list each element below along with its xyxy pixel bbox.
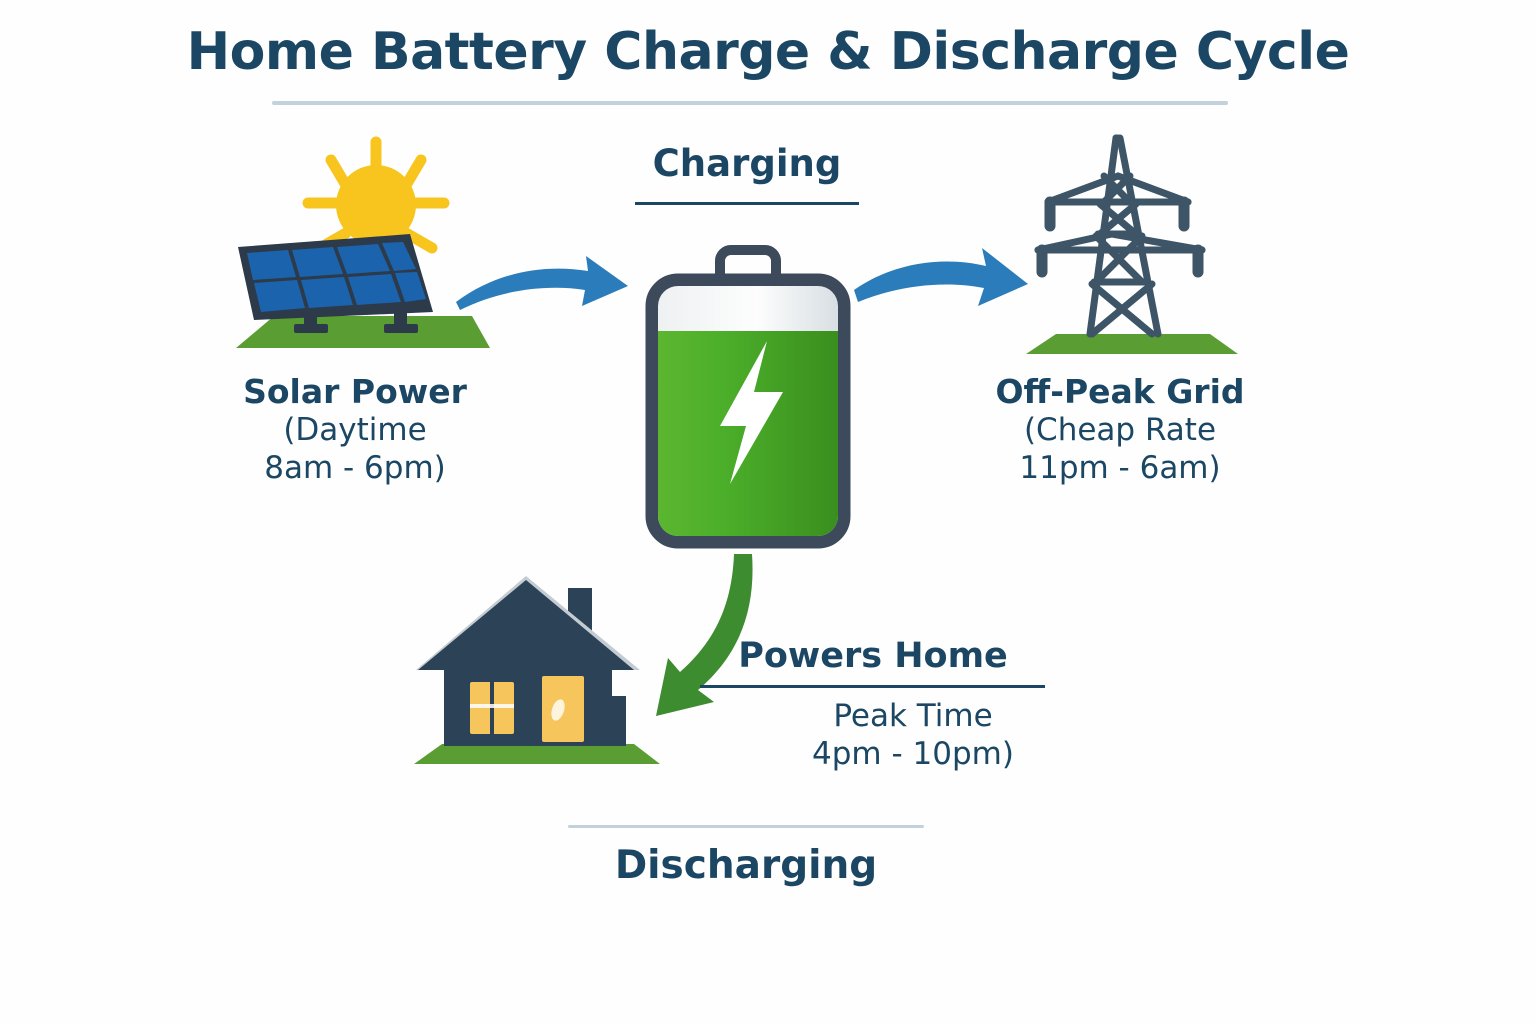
- home-subline-1: Peak Time: [740, 698, 1086, 736]
- transmission-tower-icon: [1012, 122, 1250, 360]
- door: [542, 676, 584, 742]
- grid-subline-1: (Cheap Rate: [960, 412, 1280, 450]
- solar-caption: Solar Power (Daytime 8am - 6pm): [195, 372, 515, 488]
- grass-patch: [1026, 334, 1238, 354]
- sun-disc: [336, 165, 416, 245]
- powers-home-underline: [700, 685, 1045, 688]
- house-body: [444, 666, 612, 746]
- solar-headline: Solar Power: [195, 372, 515, 412]
- grass-patch: [414, 744, 660, 764]
- solar-to-battery-arrow: [452, 248, 658, 332]
- roof: [418, 580, 634, 670]
- charging-underline: [635, 202, 859, 205]
- page-title: Home Battery Charge & Discharge Cycle: [0, 22, 1536, 82]
- powers-home-label: Powers Home: [700, 636, 1046, 676]
- solar-subline-2: 8am - 6pm): [195, 450, 515, 488]
- house-icon: [408, 558, 672, 780]
- grid-headline: Off-Peak Grid: [960, 372, 1280, 412]
- discharging-label: Discharging: [568, 843, 924, 888]
- home-subline-2: 4pm - 10pm): [740, 736, 1086, 774]
- battery-charging-icon: [636, 244, 860, 556]
- grid-subline-2: 11pm - 6am): [960, 450, 1280, 488]
- discharging-divider: [568, 825, 924, 828]
- title-divider: [272, 101, 1228, 105]
- diagram-canvas: Home Battery Charge & Discharge Cycle Ch…: [0, 0, 1536, 1024]
- window: [470, 682, 514, 734]
- solar-subline-1: (Daytime: [195, 412, 515, 450]
- home-caption: Peak Time 4pm - 10pm): [740, 698, 1086, 774]
- grid-caption: Off-Peak Grid (Cheap Rate 11pm - 6am): [960, 372, 1280, 488]
- charging-label: Charging: [636, 142, 858, 185]
